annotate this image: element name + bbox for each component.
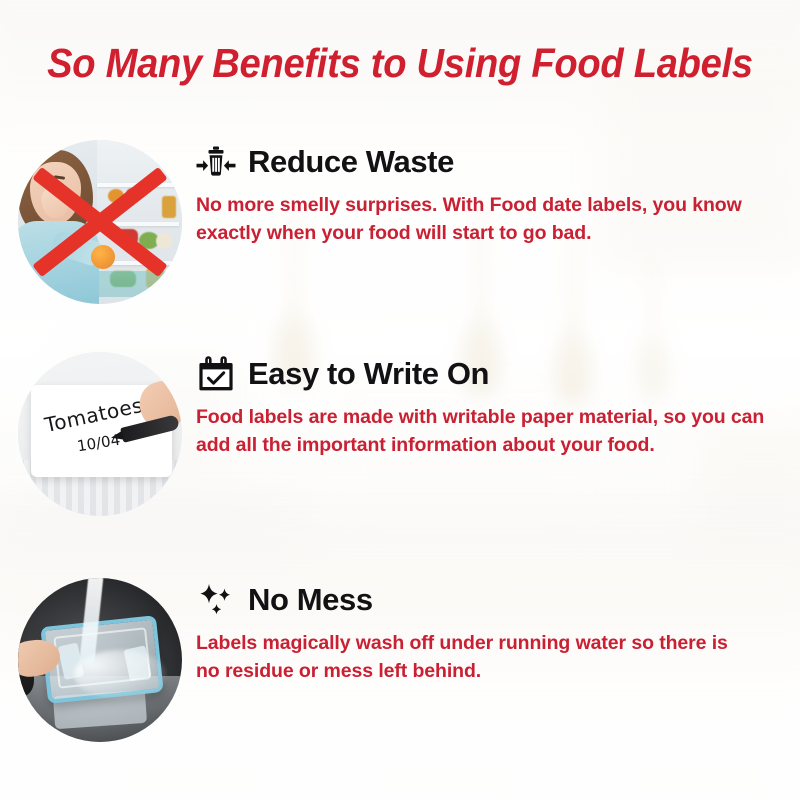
benefit-heading: Easy to Write On (248, 358, 489, 391)
benefit-body: No more smelly surprises. With Food date… (196, 192, 756, 247)
poster-title: So Many Benefits to Using Food Labels (28, 40, 772, 87)
benefits-poster: So Many Benefits to Using Food Labels (0, 0, 800, 800)
sparkles-icon (196, 580, 236, 620)
benefit-body: Labels magically wash off under running … (196, 630, 756, 685)
reduce-trash-icon (196, 142, 236, 182)
benefit-item-reduce-waste: Reduce Waste No more smelly surprises. W… (18, 140, 792, 304)
benefit-heading-row: Reduce Waste (196, 142, 792, 182)
benefit-photo-no-mess (18, 578, 182, 742)
red-x-overlay-icon (18, 140, 182, 304)
calendar-check-icon (196, 354, 236, 394)
benefit-photo-reduce-waste (18, 140, 182, 304)
benefit-photo-easy-to-write-on: Tomatoes 10/04 (18, 352, 182, 516)
benefit-heading: Reduce Waste (248, 146, 454, 179)
benefit-heading: No Mess (248, 584, 373, 617)
benefit-item-no-mess: No Mess Labels magically wash off under … (18, 578, 792, 742)
benefit-item-easy-to-write-on: Tomatoes 10/04 (18, 352, 792, 516)
benefit-body: Food labels are made with writable paper… (196, 404, 771, 459)
benefit-heading-row: Easy to Write On (196, 354, 792, 394)
benefit-heading-row: No Mess (196, 580, 792, 620)
